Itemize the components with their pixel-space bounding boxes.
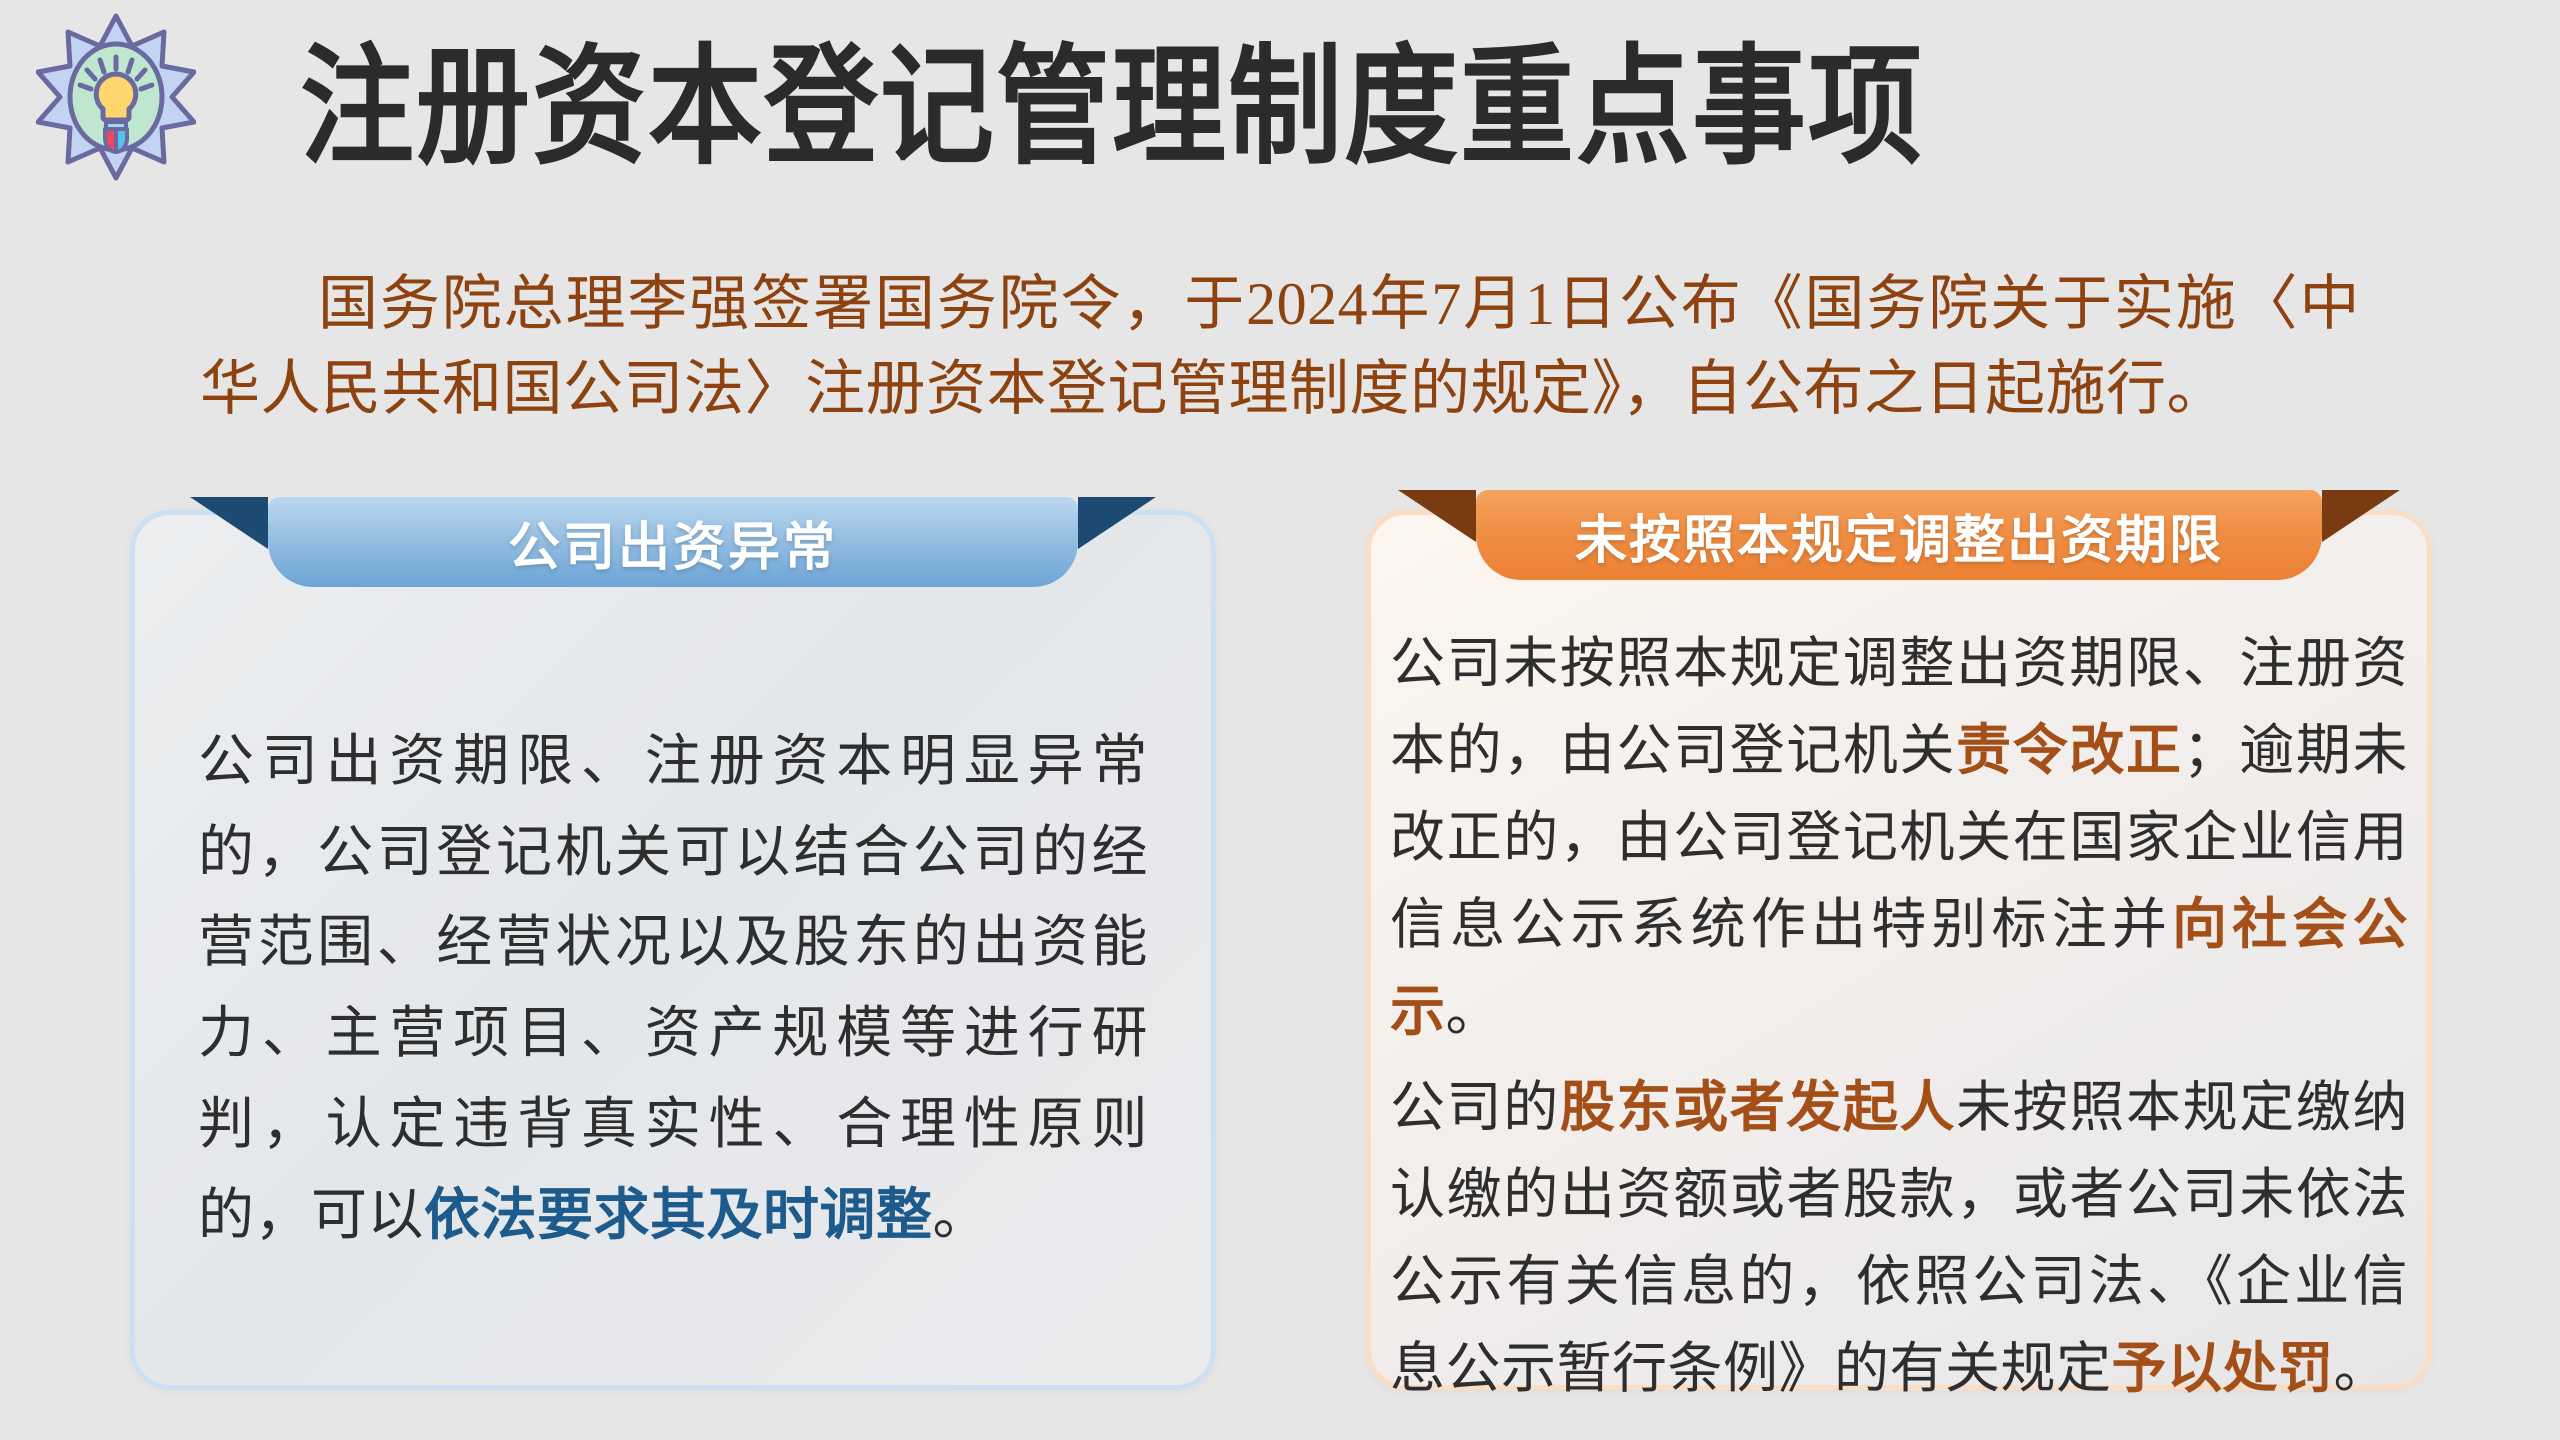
ribbon-tail-right-orange xyxy=(2322,490,2400,542)
sunburst-lightbulb-icon xyxy=(36,12,196,182)
ribbon-tail-left-blue xyxy=(190,497,268,549)
card-banner-right: 未按照本规定调整出资期限 xyxy=(1476,490,2322,580)
ribbon-tail-left-orange xyxy=(1398,490,1476,542)
highlight-segment: 责令改正 xyxy=(1956,719,2182,781)
intro-paragraph: 国务院总理李强签署国务院令，于2024年7月1日公布《国务院关于实施〈中华人民共… xyxy=(200,262,2360,432)
page-title: 注册资本登记管理制度重点事项 xyxy=(300,32,1924,181)
text-segment: 。 xyxy=(2334,1337,2390,1399)
header: 注册资本登记管理制度重点事项 xyxy=(0,0,2560,200)
text-segment: 公司出资期限、注册资本明显异常的，公司登记机关可以结合公司的经营范围、经营状况以… xyxy=(198,729,1148,1246)
paragraph: 公司出资期限、注册资本明显异常的，公司登记机关可以结合公司的经营范围、经营状况以… xyxy=(198,716,1148,1260)
text-segment: 。 xyxy=(1446,980,1502,1042)
ribbon-tail-right-blue xyxy=(1078,497,1156,549)
text-segment: 。 xyxy=(933,1183,990,1246)
card-banner-left: 公司出资异常 xyxy=(268,497,1078,587)
card-left-body: 公司出资期限、注册资本明显异常的，公司登记机关可以结合公司的经营范围、经营状况以… xyxy=(198,716,1148,1260)
text-segment: 公司的 xyxy=(1390,1076,1560,1138)
paragraph: 公司未按照本规定调整出资期限、注册资本的，由公司登记机关责令改正；逾期未改正的，… xyxy=(1390,620,2408,1054)
slide-root: 注册资本登记管理制度重点事项 国务院总理李强签署国务院令，于2024年7月1日公… xyxy=(0,0,2560,1440)
card-right-body: 公司未按照本规定调整出资期限、注册资本的，由公司登记机关责令改正；逾期未改正的，… xyxy=(1390,620,2408,1422)
highlight-segment: 依法要求其及时调整 xyxy=(424,1183,933,1246)
paragraph: 公司的股东或者发起人未按照本规定缴纳认缴的出资额或者股款，或者公司未依法公示有关… xyxy=(1390,1064,2408,1412)
highlight-segment: 予以处罚 xyxy=(2112,1337,2334,1399)
highlight-segment: 股东或者发起人 xyxy=(1560,1076,1956,1138)
